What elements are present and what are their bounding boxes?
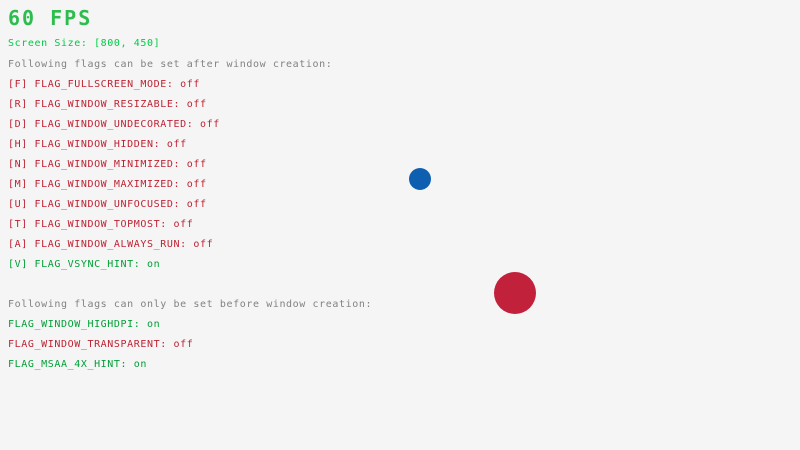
flag-row-window-undecorated[interactable]: [D] FLAG_WINDOW_UNDECORATED: off: [8, 120, 220, 130]
flag-row-fullscreen-mode[interactable]: [F] FLAG_FULLSCREEN_MODE: off: [8, 80, 200, 90]
blue-circle: [409, 168, 431, 190]
screen-size-label: Screen Size: [800, 450]: [8, 39, 160, 49]
flag-row-window-topmost[interactable]: [T] FLAG_WINDOW_TOPMOST: off: [8, 220, 193, 230]
creation-flags-header: Following flags can only be set before w…: [8, 300, 372, 310]
red-circle: [494, 272, 536, 314]
flag-row-window-hidden[interactable]: [H] FLAG_WINDOW_HIDDEN: off: [8, 140, 187, 150]
flag-row-window-resizable[interactable]: [R] FLAG_WINDOW_RESIZABLE: off: [8, 100, 207, 110]
raylib-window-canvas[interactable]: 60 FPS Screen Size: [800, 450] Following…: [0, 0, 800, 450]
flag-row-window-highdpi: FLAG_WINDOW_HIGHDPI: on: [8, 320, 160, 330]
flag-row-window-minimized[interactable]: [N] FLAG_WINDOW_MINIMIZED: off: [8, 160, 207, 170]
flag-row-window-maximized[interactable]: [M] FLAG_WINDOW_MAXIMIZED: off: [8, 180, 207, 190]
flag-row-msaa-4x-hint: FLAG_MSAA_4X_HINT: on: [8, 360, 147, 370]
fps-counter: 60 FPS: [8, 8, 92, 28]
flag-row-vsync-hint[interactable]: [V] FLAG_VSYNC_HINT: on: [8, 260, 160, 270]
flag-row-window-unfocused[interactable]: [U] FLAG_WINDOW_UNFOCUSED: off: [8, 200, 207, 210]
runtime-flags-header: Following flags can be set after window …: [8, 60, 332, 70]
flag-row-window-always-run[interactable]: [A] FLAG_WINDOW_ALWAYS_RUN: off: [8, 240, 213, 250]
flag-row-window-transparent: FLAG_WINDOW_TRANSPARENT: off: [8, 340, 193, 350]
